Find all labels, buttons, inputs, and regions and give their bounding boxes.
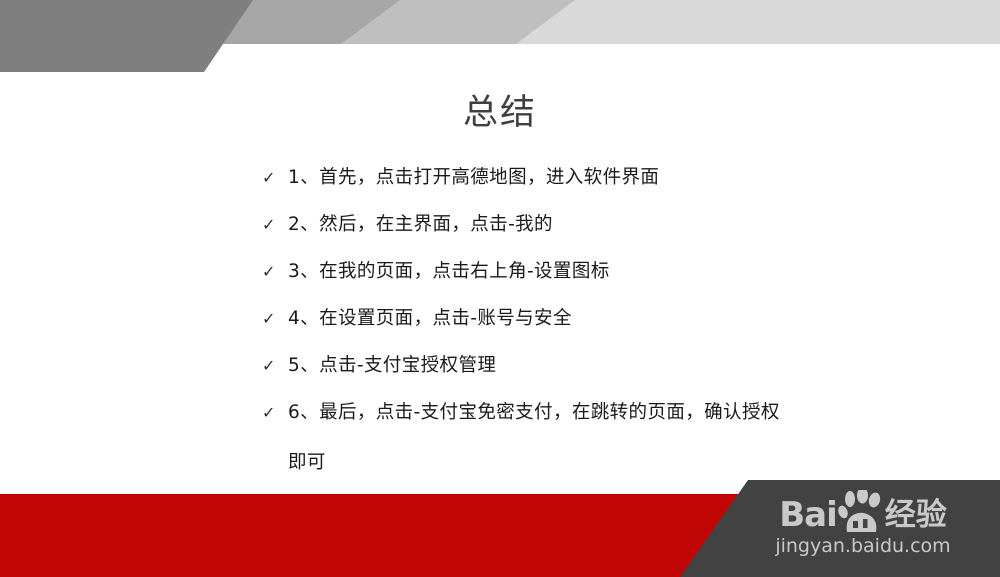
list-item-label: 5、点击-支付宝授权管理 [288, 353, 962, 378]
list-item-continuation: 即可 [288, 450, 326, 475]
slide-root: 总结 ✓ 1、首先，点击打开高德地图，进入软件界面 ✓ 2、然后，在主界面，点击… [0, 0, 1000, 577]
check-icon: ✓ [262, 165, 288, 190]
logo-url-text: jingyan.baidu.com [748, 534, 978, 558]
list-item-label: 4、在设置页面，点击-账号与安全 [288, 306, 962, 331]
list-item: ✓ 6、最后，点击-支付宝免密支付，在跳转的页面，确认授权 [262, 400, 962, 447]
baidu-jingyan-logo: Bai 经验 jingyan.baidu.com [748, 486, 978, 558]
summary-step-list: ✓ 1、首先，点击打开高德地图，进入软件界面 ✓ 2、然后，在主界面，点击-我的… [262, 165, 962, 447]
list-item: ✓ 2、然后，在主界面，点击-我的 [262, 212, 962, 259]
check-icon: ✓ [262, 400, 288, 425]
check-icon: ✓ [262, 353, 288, 378]
check-icon: ✓ [262, 306, 288, 331]
paw-print-icon [838, 490, 884, 534]
check-icon: ✓ [262, 212, 288, 237]
list-item-label: 1、首先，点击打开高德地图，进入软件界面 [288, 165, 962, 190]
logo-jingyan-text: 经验 [885, 498, 947, 532]
logo-bai-text: Bai [779, 498, 837, 532]
band-light-gray [336, 0, 575, 44]
list-item-label: 6、最后，点击-支付宝免密支付，在跳转的页面，确认授权 [288, 400, 962, 425]
band-lightest-gray [516, 0, 1000, 44]
list-item-label: 2、然后，在主界面，点击-我的 [288, 212, 962, 237]
list-item-label: 3、在我的页面，点击右上角-设置图标 [288, 259, 962, 284]
band-dark-gray [0, 0, 253, 72]
page-title: 总结 [0, 93, 1000, 133]
check-icon: ✓ [262, 259, 288, 284]
list-item: ✓ 1、首先，点击打开高德地图，进入软件界面 [262, 165, 962, 212]
list-item: ✓ 5、点击-支付宝授权管理 [262, 353, 962, 400]
list-item: ✓ 3、在我的页面，点击右上角-设置图标 [262, 259, 962, 306]
logo-wordmark: Bai 经验 [748, 486, 978, 532]
list-item: ✓ 4、在设置页面，点击-账号与安全 [262, 306, 962, 353]
band-mid-gray [181, 0, 400, 44]
top-decoration-bands [0, 0, 1000, 80]
